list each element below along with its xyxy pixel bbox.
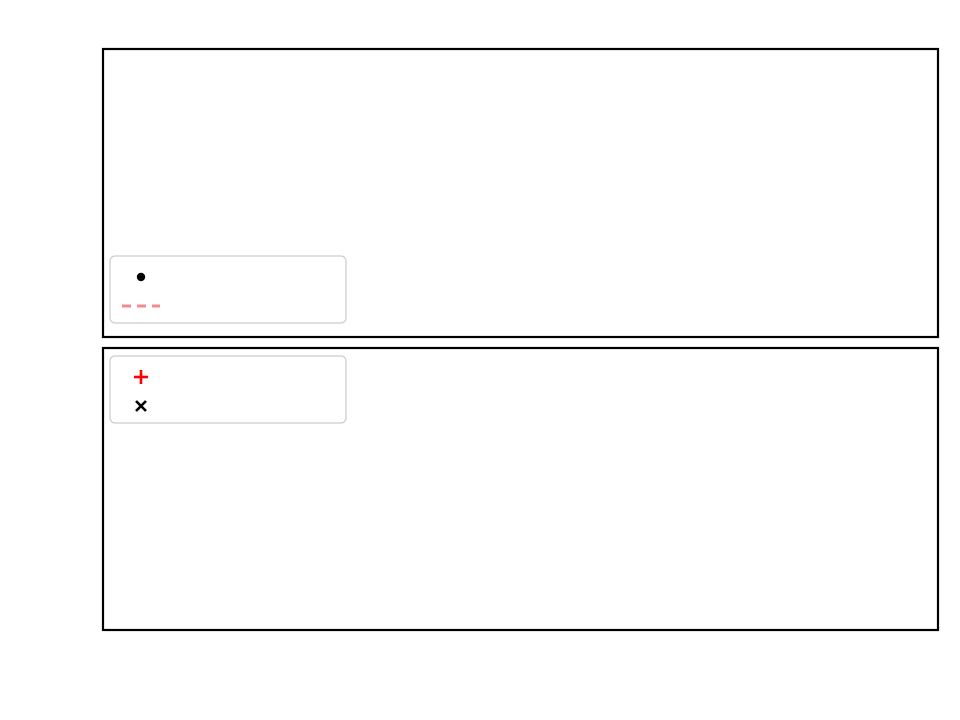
measurements-marker-icon <box>137 273 145 281</box>
figure-container <box>0 0 960 720</box>
bottom-panel-legend[interactable] <box>110 356 346 423</box>
bottom-legend-box <box>110 356 346 423</box>
matplotlib-figure <box>0 0 960 720</box>
top-legend-box <box>110 256 346 323</box>
top-panel-legend[interactable] <box>110 256 346 323</box>
